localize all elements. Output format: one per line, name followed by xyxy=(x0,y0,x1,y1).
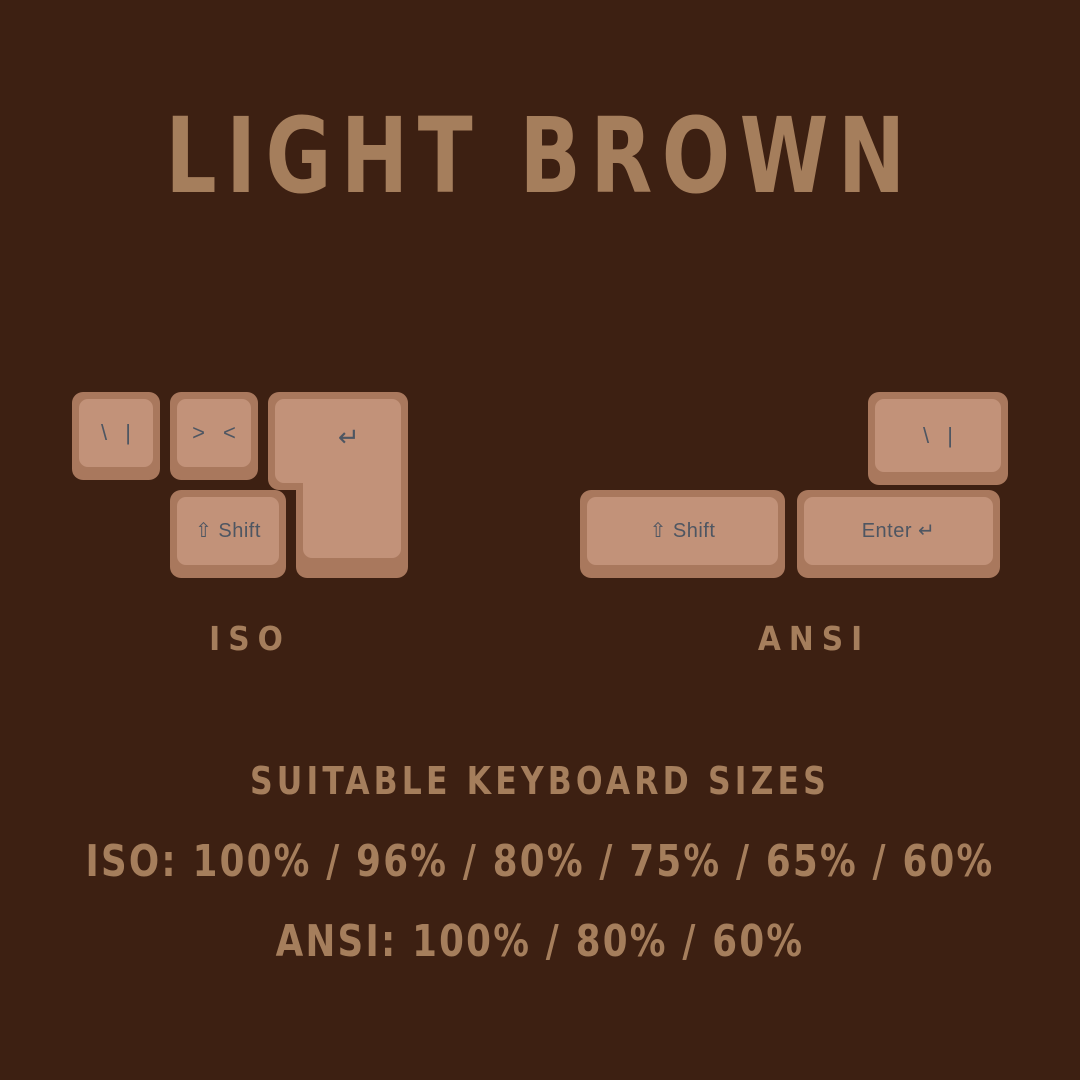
iso-group-caption: ISO xyxy=(150,622,350,655)
iso-backslash-key[interactable]: \ | xyxy=(72,392,160,480)
keycap-top-surface: \ | xyxy=(79,399,153,467)
ansi-group-caption: ANSI xyxy=(714,622,914,655)
poster-canvas: LIGHT BROWN \ | > < ↵ ⇧ S xyxy=(0,0,1080,1080)
iso-enter-key[interactable]: ↵ xyxy=(268,392,408,578)
keycap-top-surface: > < xyxy=(177,399,251,467)
iso-angle-key[interactable]: > < xyxy=(170,392,258,480)
iso-enter-top-surface-upper xyxy=(275,399,401,483)
suitable-sizes-heading: SUITABLE KEYBOARD SIZES xyxy=(43,762,1037,800)
ansi-keycap-group: \ | ⇧ Shift Enter ↵ xyxy=(580,392,1008,578)
ansi-backslash-key[interactable]: \ | xyxy=(868,392,1008,485)
iso-shift-key[interactable]: ⇧ Shift xyxy=(170,490,286,578)
keycap-top-surface: ⇧ Shift xyxy=(177,497,279,565)
ansi-shift-key-legend: ⇧ Shift xyxy=(650,521,716,541)
iso-shift-key-legend: ⇧ Shift xyxy=(195,521,261,541)
iso-sizes-line: ISO: 100% / 96% / 80% / 75% / 65% / 60% xyxy=(54,840,1026,884)
ansi-shift-key[interactable]: ⇧ Shift xyxy=(580,490,785,578)
ansi-enter-key[interactable]: Enter ↵ xyxy=(797,490,1000,578)
iso-keycap-group: \ | > < ↵ ⇧ Shift xyxy=(72,392,420,578)
keycap-top-surface: \ | xyxy=(875,399,1001,472)
keycap-top-surface: Enter ↵ xyxy=(804,497,993,565)
ansi-backslash-key-legend: \ | xyxy=(917,425,959,447)
keycap-top-surface: ⇧ Shift xyxy=(587,497,778,565)
iso-backslash-key-legend: \ | xyxy=(95,422,137,444)
ansi-sizes-line: ANSI: 100% / 80% / 60% xyxy=(54,920,1026,964)
iso-angle-key-legend: > < xyxy=(186,422,242,444)
iso-enter-top-surface-lower xyxy=(303,476,401,558)
page-title: LIGHT BROWN xyxy=(76,104,1005,208)
ansi-enter-key-legend: Enter ↵ xyxy=(862,521,936,541)
